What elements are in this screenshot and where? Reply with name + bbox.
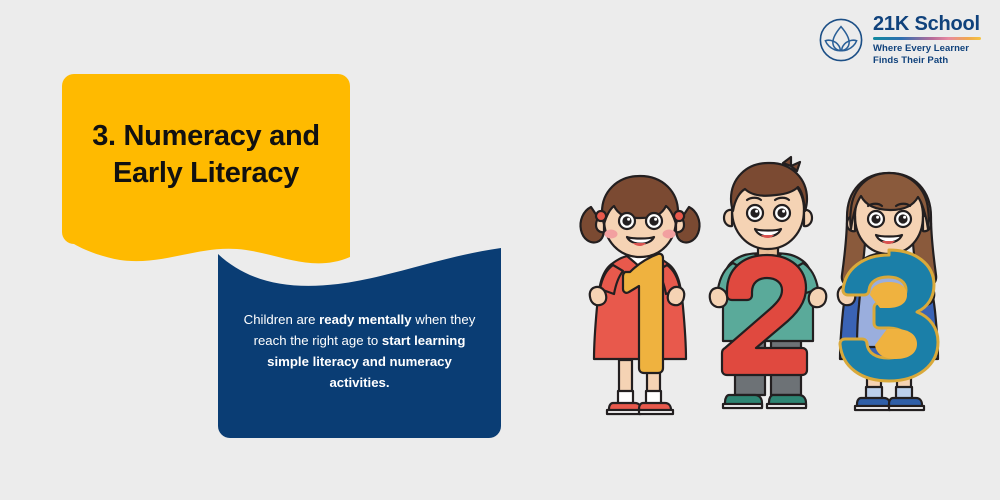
- three-children-illustration: [565, 155, 965, 440]
- children-artwork: [565, 155, 965, 440]
- page-title-line2: Early Literacy: [62, 155, 350, 192]
- child-2-boy: [710, 157, 827, 408]
- body-part-1: Children are: [244, 312, 320, 327]
- child-1-girl-pigtails: [580, 176, 699, 414]
- body-paragraph: Children are ready mentally when they re…: [240, 310, 479, 393]
- brand-tagline: Where Every Learner Finds Their Path: [873, 43, 981, 66]
- body-bold-1: ready mentally: [319, 312, 411, 327]
- brand-tagline-line2: Finds Their Path: [873, 55, 981, 67]
- brand-name: 21K School: [873, 14, 981, 35]
- brand-gradient-rule: [873, 37, 981, 40]
- slide-root: 21K School Where Every Learner Finds The…: [0, 0, 1000, 500]
- page-title: 3. Numeracy and Early Literacy: [62, 118, 350, 192]
- brand-tagline-line1: Where Every Learner: [873, 43, 981, 55]
- brand-text: 21K School Where Every Learner Finds The…: [873, 14, 981, 66]
- brand-logo: 21K School Where Every Learner Finds The…: [818, 14, 981, 66]
- child-3-girl-long-hair: [838, 173, 938, 410]
- lotus-in-circle-icon: [818, 17, 864, 63]
- blue-body-card: Children are ready mentally when they re…: [218, 248, 501, 438]
- page-title-line1: 3. Numeracy and: [62, 118, 350, 155]
